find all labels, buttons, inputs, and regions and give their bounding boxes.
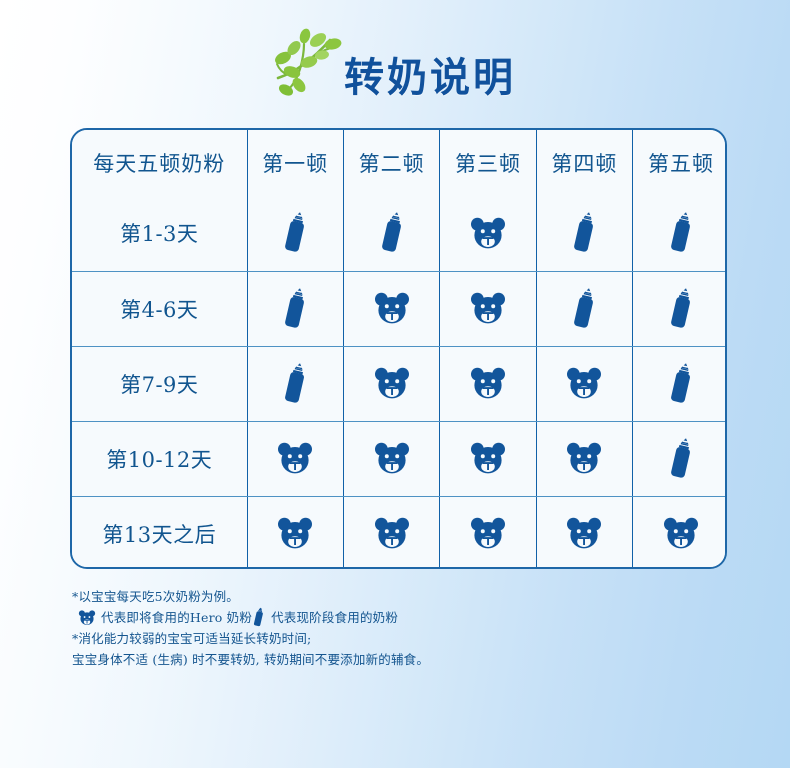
table-row: 第7-9天: [72, 346, 727, 421]
footnote-legend-bear-text: 代表即将食用的Hero 奶粉: [101, 607, 252, 628]
cell-meal-5-baby-bottle-icon: [633, 346, 727, 421]
bear-face-icon: [277, 517, 313, 550]
cell-meal-1-baby-bottle-icon: [247, 346, 343, 421]
cell-meal-4-baby-bottle-icon: [536, 196, 632, 271]
column-header-meal-3: 第三顿: [440, 130, 536, 196]
bear-face-icon: [374, 517, 410, 550]
row-label-days: 第10-12天: [72, 421, 247, 496]
cell-meal-1-baby-bottle-icon: [247, 196, 343, 271]
footnote-legend-line: 代表即将食用的Hero 奶粉 代表现阶段食用的奶粉: [72, 607, 752, 628]
page-header: 转奶说明: [0, 22, 790, 108]
table-row: 第1-3天: [72, 196, 727, 271]
cell-meal-3-bear-face-icon: [440, 271, 536, 346]
bear-face-icon: [470, 217, 506, 250]
transition-schedule-table-container: 每天五顿奶粉 第一顿 第二顿 第三顿 第四顿 第五顿 第1-3天第4-6天第7-…: [70, 128, 727, 569]
table-header-row: 每天五顿奶粉 第一顿 第二顿 第三顿 第四顿 第五顿: [72, 130, 727, 196]
column-header-meal-5: 第五顿: [633, 130, 727, 196]
cell-meal-3-bear-face-icon: [440, 196, 536, 271]
title-group: 转奶说明: [274, 28, 516, 102]
baby-bottle-icon: [670, 362, 692, 406]
cell-meal-4-bear-face-icon: [536, 346, 632, 421]
cell-meal-3-bear-face-icon: [440, 496, 536, 569]
bear-face-icon: [470, 517, 506, 550]
row-label-days: 第13天之后: [72, 496, 247, 569]
cell-meal-4-baby-bottle-icon: [536, 271, 632, 346]
table-row: 第13天之后: [72, 496, 727, 569]
baby-bottle-icon: [253, 607, 264, 628]
cell-meal-5-baby-bottle-icon: [633, 421, 727, 496]
footnote-text-1: *以宝宝每天吃5次奶粉为例。: [72, 586, 239, 607]
cell-meal-2-bear-face-icon: [343, 421, 439, 496]
bear-face-icon: [470, 367, 506, 400]
bear-face-icon: [374, 367, 410, 400]
table-row: 第4-6天: [72, 271, 727, 346]
baby-bottle-icon: [670, 287, 692, 331]
cell-meal-2-bear-face-icon: [343, 496, 439, 569]
bear-face-icon: [566, 517, 602, 550]
page-title: 转奶说明: [344, 58, 516, 102]
bear-face-icon: [566, 442, 602, 475]
cell-meal-5-baby-bottle-icon: [633, 271, 727, 346]
column-header-meal-1: 第一顿: [247, 130, 343, 196]
baby-bottle-icon: [573, 211, 595, 255]
baby-bottle-icon: [573, 287, 595, 331]
cell-meal-4-bear-face-icon: [536, 421, 632, 496]
table-body: 第1-3天第4-6天第7-9天第10-12天第13天之后: [72, 196, 727, 569]
cell-meal-1-bear-face-icon: [247, 496, 343, 569]
footnote-line-3: *消化能力较弱的宝宝可适当延长转奶时间;: [72, 628, 752, 649]
footnote-line-4: 宝宝身体不适 (生病) 时不要转奶, 转奶期间不要添加新的辅食。: [72, 649, 752, 670]
cell-meal-1-baby-bottle-icon: [247, 271, 343, 346]
cell-meal-1-bear-face-icon: [247, 421, 343, 496]
footnote-text-3: *消化能力较弱的宝宝可适当延长转奶时间;: [72, 628, 311, 649]
green-leafy-branch-icon: [274, 28, 350, 100]
bear-face-icon: [566, 367, 602, 400]
column-header-meal-4: 第四顿: [536, 130, 632, 196]
cell-meal-3-bear-face-icon: [440, 346, 536, 421]
column-header-days: 每天五顿奶粉: [72, 130, 247, 196]
baby-bottle-icon: [670, 211, 692, 255]
footnote-text-4: 宝宝身体不适 (生病) 时不要转奶, 转奶期间不要添加新的辅食。: [72, 649, 429, 670]
cell-meal-3-bear-face-icon: [440, 421, 536, 496]
bear-face-icon: [78, 610, 96, 626]
row-label-days: 第4-6天: [72, 271, 247, 346]
row-label-days: 第1-3天: [72, 196, 247, 271]
cell-meal-2-baby-bottle-icon: [343, 196, 439, 271]
footnotes: *以宝宝每天吃5次奶粉为例。 代表即将食用的Hero 奶粉: [72, 586, 752, 670]
transition-schedule-table: 每天五顿奶粉 第一顿 第二顿 第三顿 第四顿 第五顿 第1-3天第4-6天第7-…: [72, 130, 727, 569]
cell-meal-2-bear-face-icon: [343, 271, 439, 346]
footnote-legend-bottle-text: 代表现阶段食用的奶粉: [271, 607, 398, 628]
baby-bottle-icon: [284, 362, 306, 406]
row-label-days: 第7-9天: [72, 346, 247, 421]
baby-bottle-icon: [284, 211, 306, 255]
column-header-meal-2: 第二顿: [343, 130, 439, 196]
bear-face-icon: [663, 517, 699, 550]
cell-meal-5-baby-bottle-icon: [633, 196, 727, 271]
bear-face-icon: [470, 292, 506, 325]
baby-bottle-icon: [284, 287, 306, 331]
cell-meal-4-bear-face-icon: [536, 496, 632, 569]
cell-meal-5-bear-face-icon: [633, 496, 727, 569]
bear-face-icon: [277, 442, 313, 475]
cell-meal-2-bear-face-icon: [343, 346, 439, 421]
footnote-line-1: *以宝宝每天吃5次奶粉为例。: [72, 586, 752, 607]
baby-bottle-icon: [381, 211, 403, 255]
baby-bottle-icon: [670, 437, 692, 481]
table-row: 第10-12天: [72, 421, 727, 496]
bear-face-icon: [470, 442, 506, 475]
bear-face-icon: [374, 292, 410, 325]
bear-face-icon: [374, 442, 410, 475]
